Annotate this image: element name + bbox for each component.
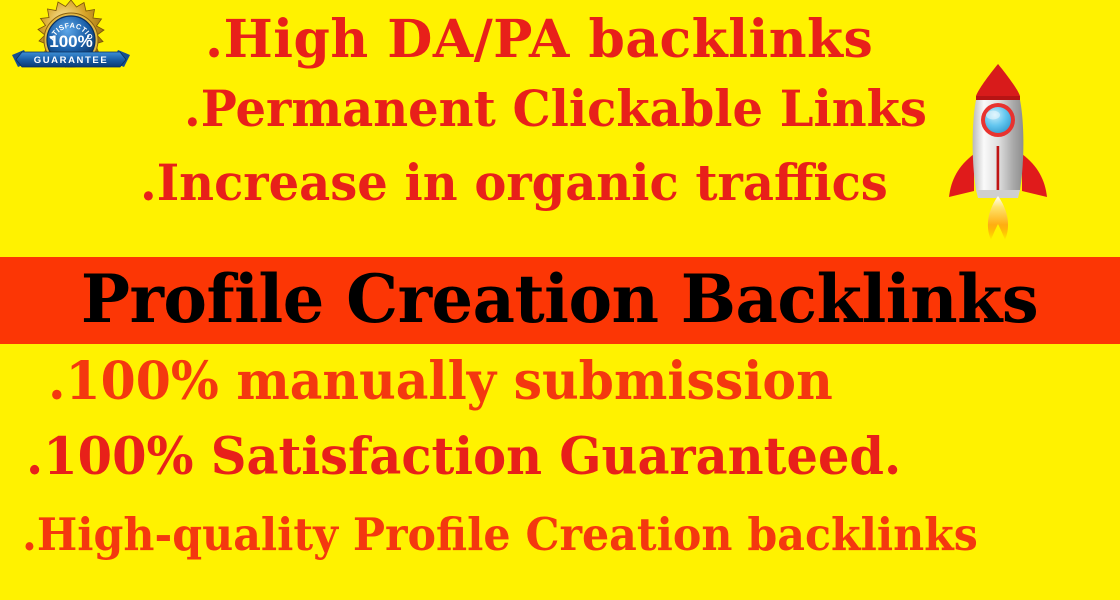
bullet-high-quality-profiles: .High-quality Profile Creation backlinks [22, 512, 978, 557]
bullet-satisfaction-guaranteed: .100% Satisfaction Guaranteed. [26, 432, 901, 483]
bullet-permanent-links: .Permanent Clickable Links [184, 84, 927, 134]
bullet-manual-submission: .100% manually submission [48, 356, 833, 408]
headline-band: Profile Creation Backlinks [0, 257, 1120, 344]
rocket-icon [938, 58, 1058, 248]
bottom-bullet-block: .100% manually submission .100% Satisfac… [0, 344, 1120, 600]
bullet-organic-traffic: .Increase in organic traffics [140, 158, 888, 208]
bullet-high-da-pa: .High DA/PA backlinks [205, 14, 873, 66]
top-bullet-block: SATISFACTION 100% GUARANTEE .High DA/PA … [0, 0, 1120, 257]
badge-center-text: 100% [49, 32, 92, 51]
satisfaction-guarantee-badge: SATISFACTION 100% GUARANTEE [8, 0, 134, 84]
badge-ribbon-text: GUARANTEE [34, 55, 109, 66]
promo-poster: SATISFACTION 100% GUARANTEE .High DA/PA … [0, 0, 1120, 600]
page-title: Profile Creation Backlinks [81, 266, 1038, 336]
